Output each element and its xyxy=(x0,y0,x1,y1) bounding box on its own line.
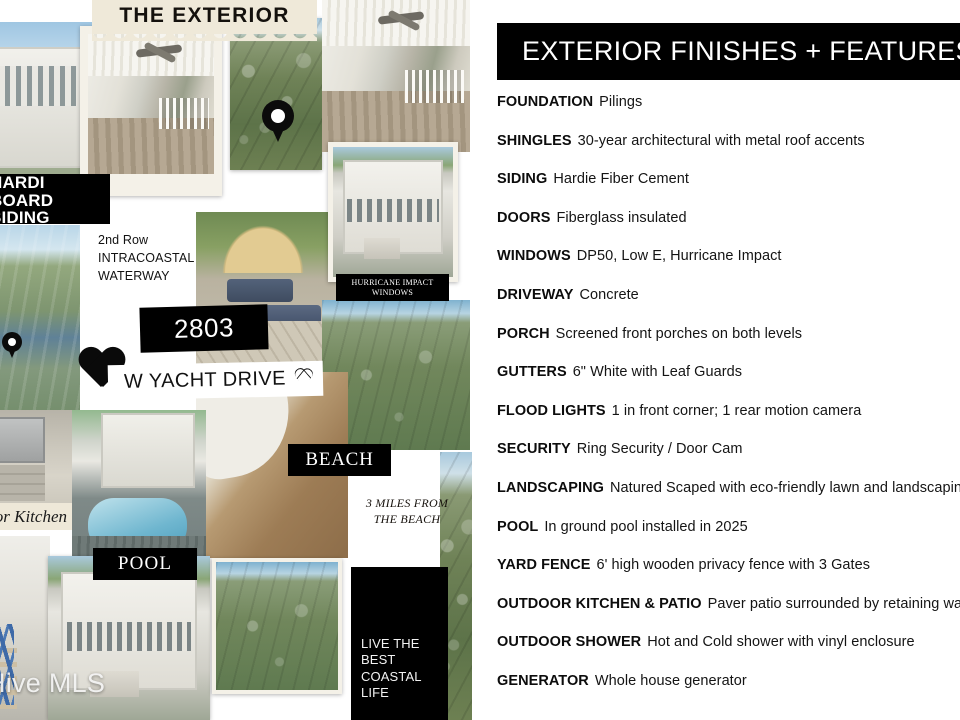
feature-key: DOORS xyxy=(497,210,550,226)
label-miles-from-beach: 3 MILES FROMTHE BEACH xyxy=(348,495,466,527)
feature-row: LANDSCAPINGNatured Scaped with eco-frien… xyxy=(497,480,960,519)
features-header-title: EXTERIOR FINISHES + FEATURES xyxy=(497,36,960,67)
label-hurricane-impact-windows: HURRICANE IMPACT WINDOWS xyxy=(336,274,449,301)
feature-key: OUTDOOR KITCHEN & PATIO xyxy=(497,596,702,612)
address-number-text: 2803 xyxy=(174,312,235,345)
feature-row: SECURITYRing Security / Door Cam xyxy=(497,441,960,480)
photo-marsh-waterway xyxy=(0,225,80,430)
feature-row: DRIVEWAYConcrete xyxy=(497,287,960,326)
feature-row: OUTDOOR SHOWERHot and Cold shower with v… xyxy=(497,634,960,673)
feature-value: Screened front porches on both levels xyxy=(556,326,802,342)
feature-key: OUTDOOR SHOWER xyxy=(497,634,641,650)
feature-value: Hot and Cold shower with vinyl enclosure xyxy=(647,634,914,650)
label-hardi-board-siding: HARDI BOARD SIDING xyxy=(0,174,110,224)
photo-porch-polaroid xyxy=(80,26,222,196)
feature-value: Ring Security / Door Cam xyxy=(577,441,743,457)
photo-front-elevation-driveway xyxy=(328,142,458,282)
feature-key: SHINGLES xyxy=(497,133,572,149)
feature-row: GENERATORWhole house generator xyxy=(497,673,960,712)
feature-row: OUTDOOR KITCHEN & PATIOPaver patio surro… xyxy=(497,596,960,635)
features-panel: EXTERIOR FINISHES + FEATURES FOUNDATIONP… xyxy=(472,0,960,720)
feature-value: 6' high wooden privacy fence with 3 Gate… xyxy=(597,557,871,573)
label-outdoor-kitchen: or Kitchen xyxy=(0,503,72,530)
feature-key: DRIVEWAY xyxy=(497,287,573,303)
features-header-bar: EXTERIOR FINISHES + FEATURES xyxy=(497,23,960,80)
feature-row: WINDOWSDP50, Low E, Hurricane Impact xyxy=(497,248,960,287)
photo-screened-porch-seating xyxy=(322,0,470,152)
feature-key: SIDING xyxy=(497,171,547,187)
feature-row: FLOOD LIGHTS1 in front corner; 1 rear mo… xyxy=(497,403,960,442)
label-pool: POOL xyxy=(93,548,197,580)
coastal-tagline-text: LIVE THEBESTCOASTALLIFE xyxy=(351,636,422,720)
pool-text: POOL xyxy=(118,553,172,575)
photo-collage: THE EXTERIOR HARDI BOARD SIDING 2nd Row … xyxy=(0,0,472,720)
hurricane-line-2: WINDOWS xyxy=(372,288,413,298)
feature-value: In ground pool installed in 2025 xyxy=(544,519,747,535)
feature-key: PORCH xyxy=(497,326,550,342)
feature-key: FOUNDATION xyxy=(497,94,593,110)
label-address-street: W YACHT DRIVE xyxy=(108,361,324,400)
feature-row: PORCHScreened front porches on both leve… xyxy=(497,326,960,365)
photo-house-front-large xyxy=(48,556,210,720)
label-beach: BEACH xyxy=(288,444,391,476)
feature-row: SIDINGHardie Fiber Cement xyxy=(497,171,960,210)
feature-key: FLOOD LIGHTS xyxy=(497,403,606,419)
photo-aerial-coast-polaroid xyxy=(212,558,342,694)
photo-under-deck-storage xyxy=(0,536,50,720)
feature-value: Natured Scaped with eco-friendly lawn an… xyxy=(610,480,960,496)
feature-row: POOLIn ground pool installed in 2025 xyxy=(497,519,960,558)
feature-value: 1 in front corner; 1 rear motion camera xyxy=(612,403,862,419)
address-street-text: W YACHT DRIVE xyxy=(124,368,286,394)
heart-outline-icon xyxy=(294,368,313,388)
feature-key: GENERATOR xyxy=(497,673,589,689)
outdoor-kitchen-text: or Kitchen xyxy=(0,507,67,527)
feature-row: DOORSFiberglass insulated xyxy=(497,210,960,249)
feature-key: YARD FENCE xyxy=(497,557,591,573)
hurricane-line-1: HURRICANE IMPACT xyxy=(352,278,434,288)
section-banner-text: THE EXTERIOR xyxy=(119,4,289,28)
feature-value: 30-year architectural with metal roof ac… xyxy=(578,133,865,149)
label-address-number: 2803 xyxy=(139,304,268,353)
feature-row: SHINGLES30-year architectural with metal… xyxy=(497,133,960,172)
feature-key: SECURITY xyxy=(497,441,571,457)
feature-value: Whole house generator xyxy=(595,673,747,689)
feature-key: WINDOWS xyxy=(497,248,571,264)
map-pin-icon-small xyxy=(2,332,22,358)
feature-row: GUTTERS6" White with Leaf Guards xyxy=(497,364,960,403)
feature-key: LANDSCAPING xyxy=(497,480,604,496)
feature-value: DP50, Low E, Hurricane Impact xyxy=(577,248,782,264)
feature-value: Fiberglass insulated xyxy=(556,210,686,226)
label-live-best-coastal-life: LIVE THEBESTCOASTALLIFE xyxy=(351,567,448,720)
hardi-line-2: SIDING xyxy=(0,209,50,227)
feature-key: POOL xyxy=(497,519,538,535)
feature-row: FOUNDATIONPilings xyxy=(497,94,960,133)
feature-value: 6" White with Leaf Guards xyxy=(573,364,742,380)
feature-key: GUTTERS xyxy=(497,364,567,380)
feature-value: Concrete xyxy=(579,287,638,303)
feature-value: Pilings xyxy=(599,94,642,110)
hardi-line-1: HARDI BOARD xyxy=(0,174,110,210)
feature-row: YARD FENCE 6' high wooden privacy fence … xyxy=(497,557,960,596)
section-banner-the-exterior: THE EXTERIOR xyxy=(92,0,317,34)
features-list: FOUNDATIONPilingsSHINGLES30-year archite… xyxy=(497,94,960,712)
map-pin-icon xyxy=(262,100,294,142)
feature-value: Hardie Fiber Cement xyxy=(553,171,689,187)
label-second-row-intracoastal: 2nd Row INTRACOASTAL WATERWAY xyxy=(98,232,193,285)
marketing-collage-page: THE EXTERIOR HARDI BOARD SIDING 2nd Row … xyxy=(0,0,960,720)
feature-value: Paver patio surrounded by retaining wall xyxy=(708,596,960,612)
beach-text: BEACH xyxy=(305,449,373,471)
